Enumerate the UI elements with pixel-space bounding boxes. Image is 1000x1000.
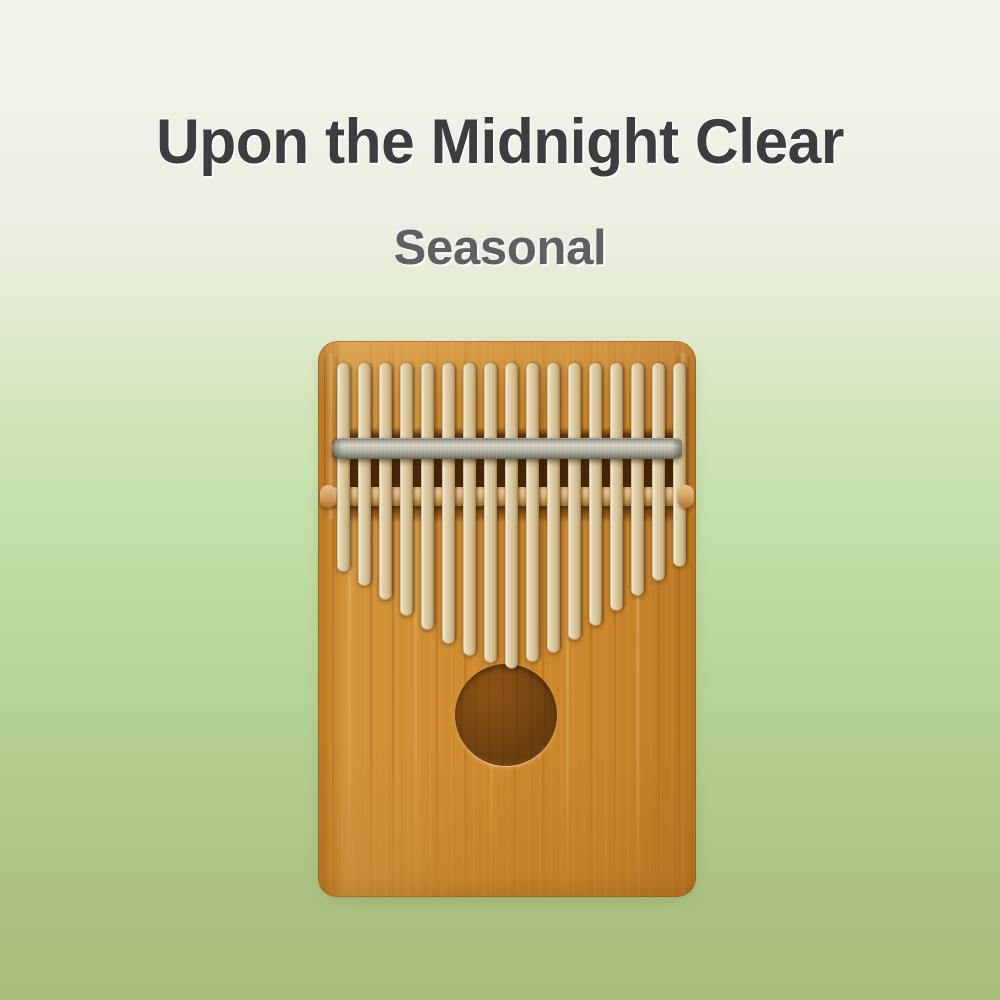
metal-bar-texture bbox=[332, 438, 682, 459]
metal-bridge-bar bbox=[332, 438, 682, 459]
kalimba-tine[interactable] bbox=[358, 363, 371, 585]
kalimba-tine[interactable] bbox=[484, 363, 497, 662]
song-card: Upon the Midnight Clear Seasonal bbox=[0, 0, 1000, 1000]
kalimba-tine[interactable] bbox=[568, 363, 581, 639]
kalimba-body bbox=[318, 341, 696, 897]
song-subtitle: Seasonal bbox=[0, 220, 1000, 276]
kalimba-tine[interactable] bbox=[610, 363, 623, 610]
kalimba-tine[interactable] bbox=[652, 363, 665, 580]
sound-hole bbox=[455, 664, 557, 766]
metal-bar-end-left bbox=[332, 438, 342, 459]
sound-hole-grain bbox=[455, 664, 557, 766]
kalimba-tine[interactable] bbox=[379, 363, 392, 599]
kalimba-tine[interactable] bbox=[421, 363, 434, 629]
kalimba-tine[interactable] bbox=[673, 363, 686, 566]
kalimba-tine[interactable] bbox=[526, 363, 539, 661]
saddle-knob-right bbox=[678, 485, 694, 508]
title-block: Upon the Midnight Clear Seasonal bbox=[0, 104, 1000, 276]
kalimba-tine[interactable] bbox=[337, 363, 350, 571]
kalimba-tine[interactable] bbox=[442, 363, 455, 643]
metal-bar-end-right bbox=[672, 438, 682, 459]
kalimba-tine[interactable] bbox=[505, 363, 518, 668]
kalimba-tine[interactable] bbox=[400, 363, 413, 615]
kalimba-tine[interactable] bbox=[589, 363, 602, 625]
kalimba-tine[interactable] bbox=[463, 363, 476, 655]
saddle-knob-left bbox=[320, 485, 336, 508]
kalimba-tine[interactable] bbox=[547, 363, 560, 652]
page-title: Upon the Midnight Clear bbox=[20, 104, 980, 180]
kalimba-illustration bbox=[318, 341, 696, 897]
kalimba-tine[interactable] bbox=[631, 363, 644, 595]
